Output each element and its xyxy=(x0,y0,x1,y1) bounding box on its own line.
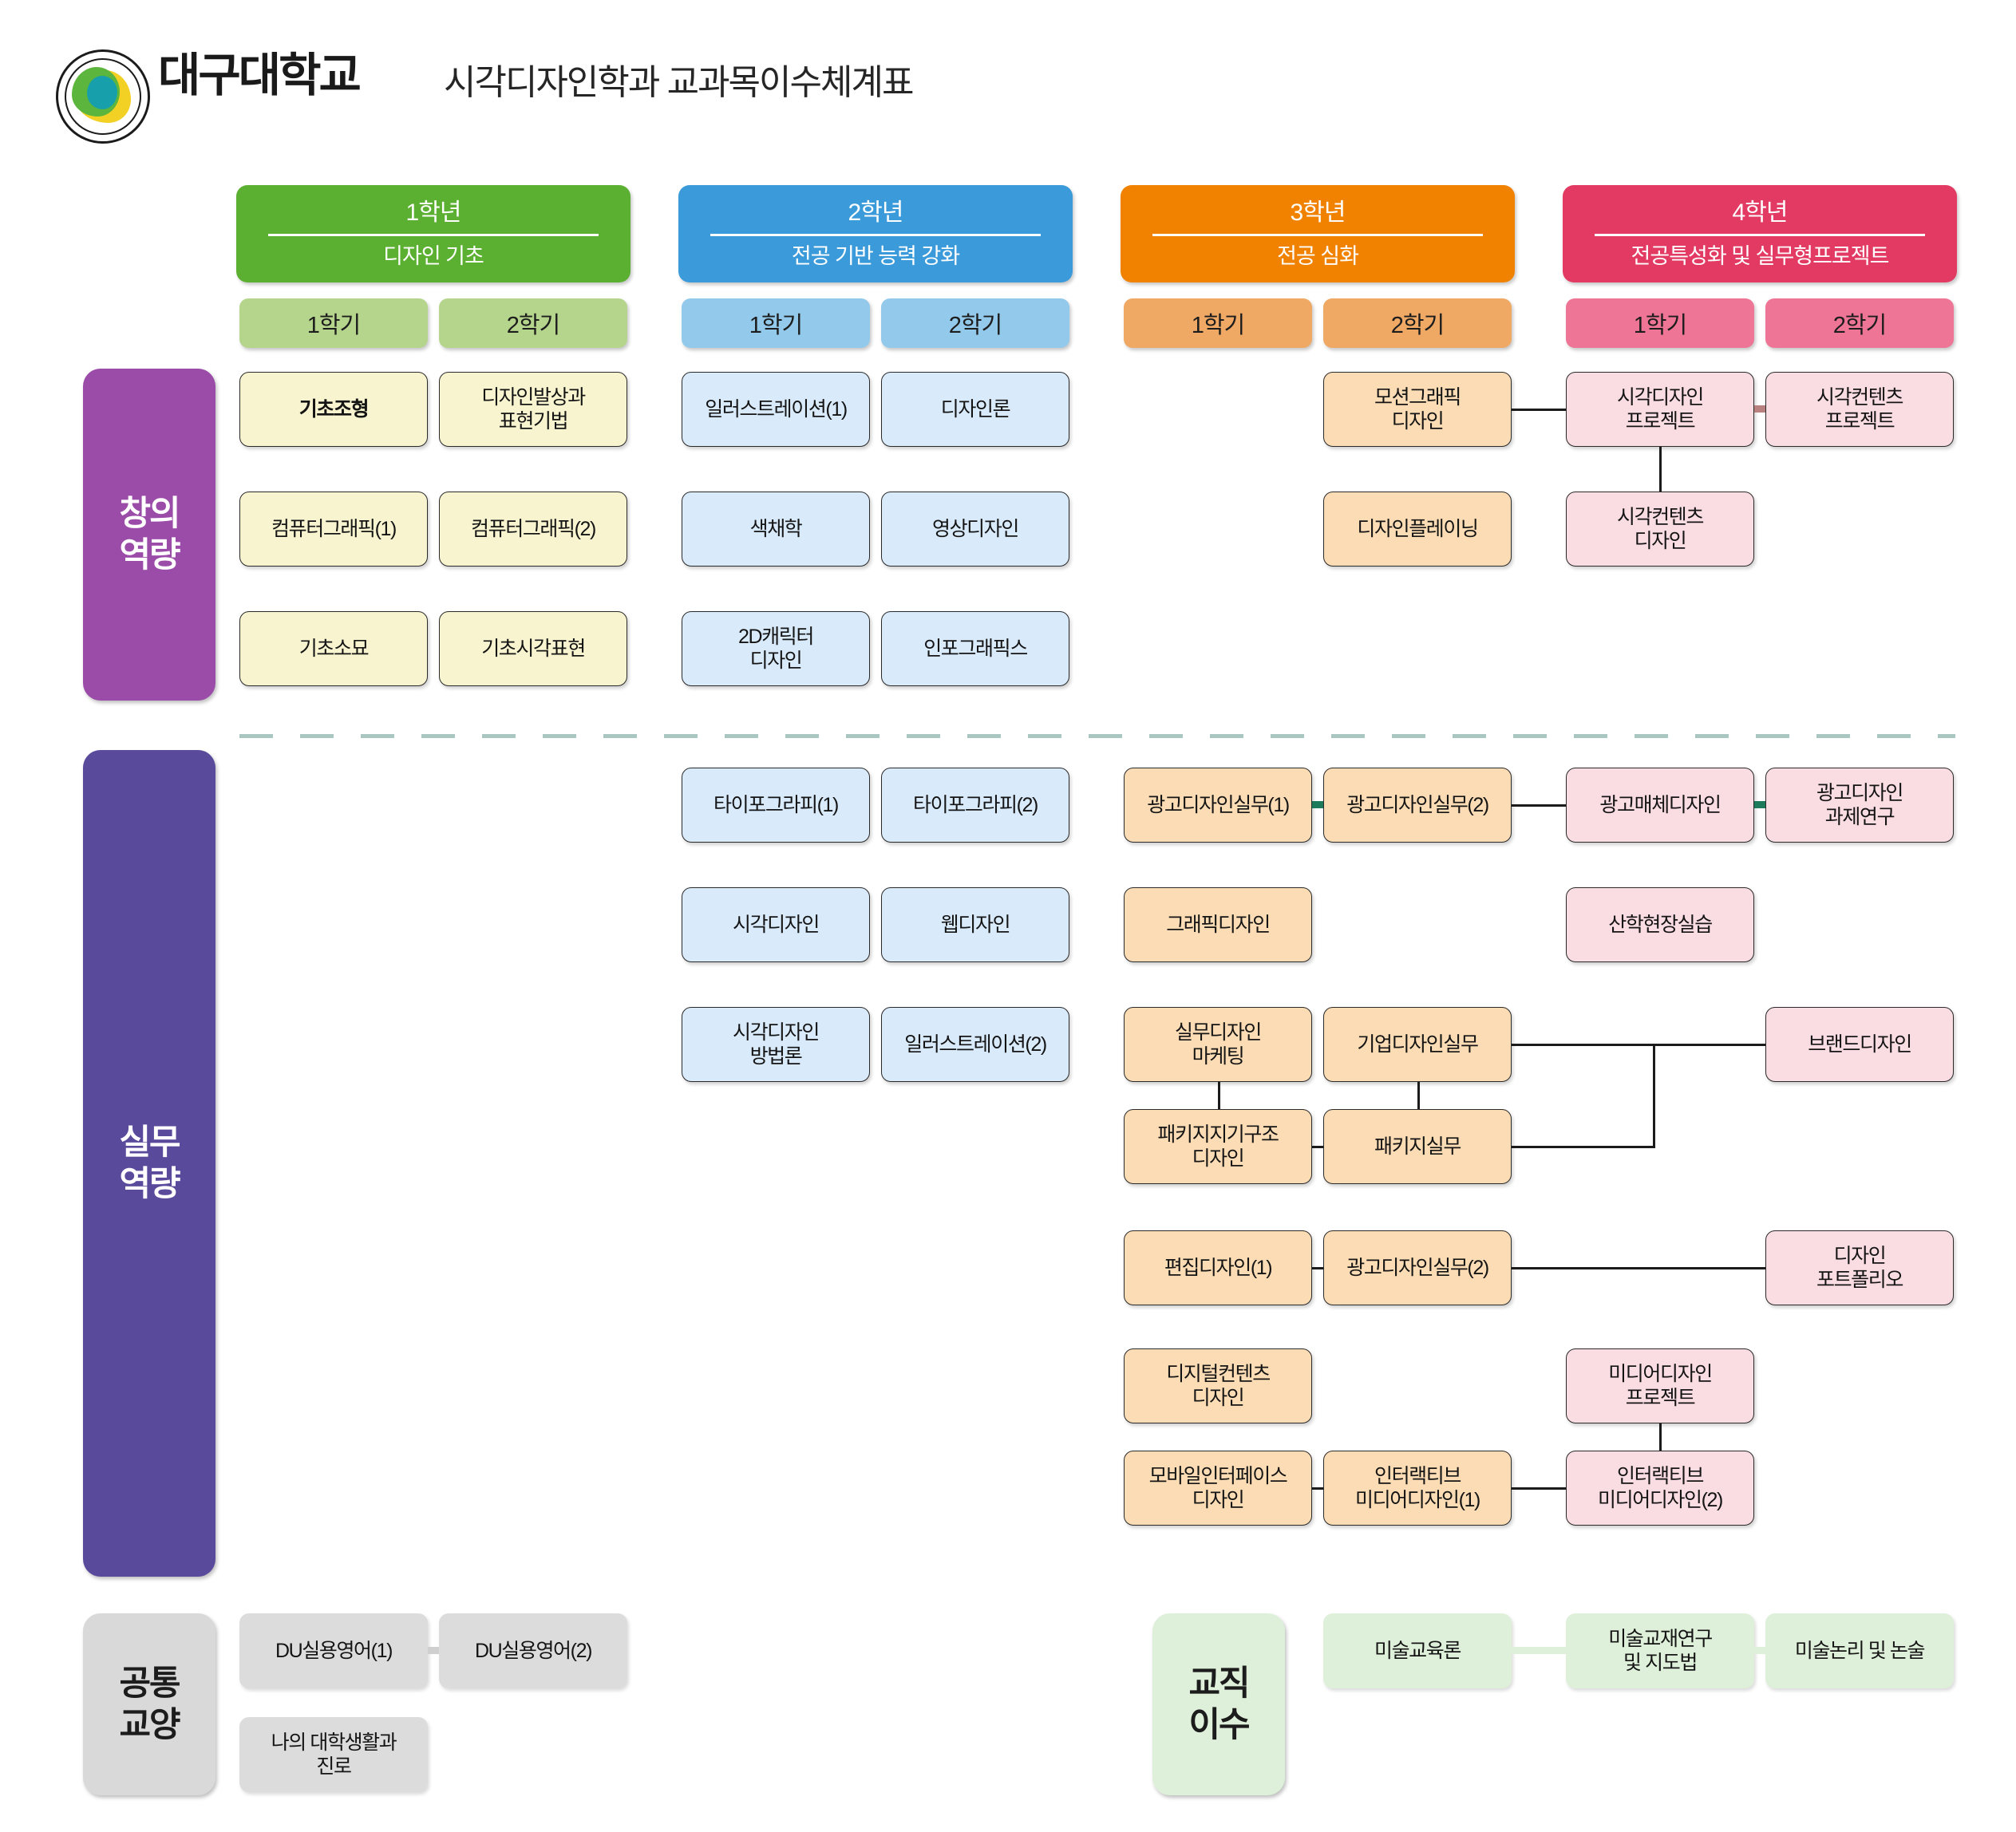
course-box[interactable]: 시각디자인 프로젝트 xyxy=(1566,372,1754,447)
year-banner-1-label: 1학년 xyxy=(406,201,461,225)
connector-english1-to-english2 xyxy=(428,1647,439,1654)
course-box[interactable]: 브랜드디자인 xyxy=(1765,1007,1954,1082)
course-box[interactable]: 미디어디자인 프로젝트 xyxy=(1566,1348,1754,1423)
connector-corpdesign-to-brand xyxy=(1512,1044,1765,1046)
course-box[interactable]: 기초소묘 xyxy=(239,611,428,686)
connector-mobileui-to-interactive1 xyxy=(1312,1487,1323,1490)
course-box[interactable]: 미술논리 및 논술 xyxy=(1765,1613,1954,1688)
year-banner-3-label: 3학년 xyxy=(1291,201,1346,225)
year-banner-4-subtitle: 전공특성화 및 실무형프로젝트 xyxy=(1631,246,1889,267)
course-box[interactable]: 일러스트레이션(1) xyxy=(682,372,870,447)
semester-chip-y3-s1[interactable]: 1학기 xyxy=(1124,298,1312,348)
course-box[interactable]: 영상디자인 xyxy=(881,492,1069,567)
university-logo xyxy=(56,49,150,144)
year-banner-2-subtitle: 전공 기반 능력 강화 xyxy=(792,246,959,267)
page-title: 시각디자인학과 교과목이수체계표 xyxy=(444,65,912,101)
semester-chip-y4-s1[interactable]: 1학기 xyxy=(1566,298,1754,348)
course-box[interactable]: 광고매체디자인 xyxy=(1566,768,1754,843)
connector-admedia-to-adresearch xyxy=(1754,801,1765,808)
connector-motion-to-vdproject xyxy=(1512,409,1566,411)
connector-packagestructure-to-packagepractice xyxy=(1312,1146,1323,1148)
course-box[interactable]: 디자인플레이닝 xyxy=(1323,492,1512,567)
semester-chip-y2-s2[interactable]: 2학기 xyxy=(881,298,1069,348)
semester-chip-y1-s1[interactable]: 1학기 xyxy=(239,298,428,348)
course-box[interactable]: 디자인발상과 표현기법 xyxy=(439,372,627,447)
course-box[interactable]: 2D캐릭터 디자인 xyxy=(682,611,870,686)
semester-chip-y2-s1[interactable]: 1학기 xyxy=(682,298,870,348)
connector-adpractice1-to-adpractice2 xyxy=(1312,801,1323,808)
connector-packagepractice-up xyxy=(1653,1044,1655,1148)
course-box[interactable]: 색채학 xyxy=(682,492,870,567)
course-box[interactable]: 인터랙티브 미디어디자인(2) xyxy=(1566,1451,1754,1526)
course-box[interactable]: 인터랙티브 미디어디자인(1) xyxy=(1323,1451,1512,1526)
connector-adpractice-to-portfolio xyxy=(1512,1267,1765,1269)
course-box[interactable]: 기초시각표현 xyxy=(439,611,627,686)
course-box[interactable]: 광고디자인실무(2) xyxy=(1323,1230,1512,1305)
course-box[interactable]: 미술교재연구 및 지도법 xyxy=(1566,1613,1754,1688)
course-box[interactable]: 기업디자인실무 xyxy=(1323,1007,1512,1082)
course-box[interactable]: 실무디자인 마케팅 xyxy=(1124,1007,1312,1082)
course-box[interactable]: 컴퓨터그래픽(2) xyxy=(439,492,627,567)
connector-adpractice2-to-admedia xyxy=(1512,804,1566,807)
connector-interactive1-to-interactive2 xyxy=(1512,1487,1566,1490)
year-banner-4-label: 4학년 xyxy=(1733,201,1788,225)
year-banner-2-rule xyxy=(710,234,1042,236)
course-box[interactable]: 시각컨텐츠 프로젝트 xyxy=(1765,372,1954,447)
course-box[interactable]: 패키지실무 xyxy=(1323,1109,1512,1184)
rail-practical-competency: 실무 역량 xyxy=(83,750,215,1577)
connector-vdproject-to-vcdesign xyxy=(1659,447,1662,492)
course-box[interactable]: 광고디자인 과제연구 xyxy=(1765,768,1954,843)
course-box[interactable]: 광고디자인실무(1) xyxy=(1124,768,1312,843)
year-banner-2: 2학년 전공 기반 능력 강화 xyxy=(678,185,1073,282)
course-box[interactable]: 산학현장실습 xyxy=(1566,887,1754,962)
semester-chip-y3-s2[interactable]: 2학기 xyxy=(1323,298,1512,348)
course-box[interactable]: 디자인론 xyxy=(881,372,1069,447)
course-box[interactable]: 디자인 포트폴리오 xyxy=(1765,1230,1954,1305)
connector-marketing-to-packagestructure xyxy=(1218,1082,1220,1109)
course-box[interactable]: 시각컨텐츠 디자인 xyxy=(1566,492,1754,567)
course-box[interactable]: 인포그래픽스 xyxy=(881,611,1069,686)
course-box[interactable]: 미술교육론 xyxy=(1323,1613,1512,1688)
year-banner-3: 3학년 전공 심화 xyxy=(1121,185,1515,282)
course-box[interactable]: DU실용영어(2) xyxy=(439,1613,627,1688)
logo-leaf-teal-icon xyxy=(87,76,117,109)
course-box[interactable]: 모션그래픽 디자인 xyxy=(1323,372,1512,447)
course-box[interactable]: 그래픽디자인 xyxy=(1124,887,1312,962)
connector-arteducation-to-artmaterial xyxy=(1512,1647,1566,1654)
semester-chip-y1-s2[interactable]: 2학기 xyxy=(439,298,627,348)
course-box[interactable]: 시각디자인 방법론 xyxy=(682,1007,870,1082)
semester-chip-y4-s2[interactable]: 2학기 xyxy=(1765,298,1954,348)
year-banner-3-rule xyxy=(1152,234,1484,236)
rail-teaching-certification: 교직 이수 xyxy=(1152,1613,1285,1795)
connector-corpdesign-to-packagepractice xyxy=(1417,1082,1420,1109)
connector-packagepractice-right xyxy=(1512,1146,1655,1148)
course-box[interactable]: 시각디자인 xyxy=(682,887,870,962)
course-box[interactable]: 기초조형 xyxy=(239,372,428,447)
year-banner-1: 1학년 디자인 기초 xyxy=(236,185,630,282)
year-banner-4-rule xyxy=(1595,234,1926,236)
course-box[interactable]: 웹디자인 xyxy=(881,887,1069,962)
section-divider xyxy=(239,734,1955,738)
connector-artmaterial-to-artlogic xyxy=(1754,1647,1765,1654)
university-name: 대구대학교 xyxy=(158,53,359,99)
course-box[interactable]: 편집디자인(1) xyxy=(1124,1230,1312,1305)
course-box[interactable]: 타이포그라피(2) xyxy=(881,768,1069,843)
year-banner-1-subtitle: 디자인 기초 xyxy=(383,246,484,267)
rail-creative-competency: 창의 역량 xyxy=(83,369,215,701)
course-box[interactable]: 모바일인터페이스 디자인 xyxy=(1124,1451,1312,1526)
rail-general-education: 공통 교양 xyxy=(83,1613,215,1795)
year-banner-2-label: 2학년 xyxy=(848,201,903,225)
course-box[interactable]: 타이포그라피(1) xyxy=(682,768,870,843)
connector-vdproject-to-vcproject xyxy=(1754,405,1765,413)
connector-mediaproject-to-interactive2 xyxy=(1659,1423,1662,1451)
course-box[interactable]: 나의 대학생활과 진로 xyxy=(239,1717,428,1792)
course-box[interactable]: 광고디자인실무(2) xyxy=(1323,768,1512,843)
course-box[interactable]: DU실용영어(1) xyxy=(239,1613,428,1688)
year-banner-4: 4학년 전공특성화 및 실무형프로젝트 xyxy=(1563,185,1957,282)
course-box[interactable]: 디지털컨텐츠 디자인 xyxy=(1124,1348,1312,1423)
course-box[interactable]: 컴퓨터그래픽(1) xyxy=(239,492,428,567)
year-banner-1-rule xyxy=(268,234,599,236)
course-box[interactable]: 일러스트레이션(2) xyxy=(881,1007,1069,1082)
course-box[interactable]: 패키지지기구조 디자인 xyxy=(1124,1109,1312,1184)
connector-editdesign-to-adpractice xyxy=(1312,1267,1323,1269)
year-banner-3-subtitle: 전공 심화 xyxy=(1277,246,1358,267)
